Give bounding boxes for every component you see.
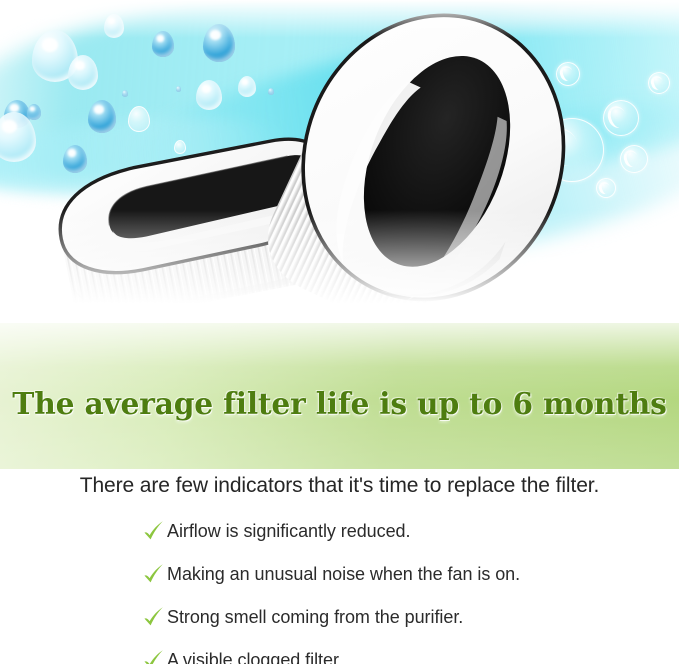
water-bubble [648, 72, 670, 94]
list-item-label: Airflow is significantly reduced. [167, 519, 410, 543]
list-item-label: A visible clogged filter. [167, 648, 343, 664]
water-droplet [128, 106, 150, 132]
water-bubble [596, 178, 616, 198]
list-item: Strong smell coming from the purifier. [143, 605, 520, 648]
indicators-section: There are few indicators that it's time … [0, 469, 679, 664]
water-droplet [68, 55, 98, 90]
list-item-label: Making an unusual noise when the fan is … [167, 562, 520, 586]
check-icon [143, 520, 165, 544]
water-droplet [238, 76, 256, 97]
water-droplet [88, 100, 116, 133]
water-droplet-speck [176, 86, 181, 92]
check-icon [143, 649, 165, 664]
water-droplet [63, 145, 87, 173]
product-feature-image: The average filter life is up to 6 month… [0, 0, 679, 664]
water-droplet [196, 80, 222, 110]
water-droplet [27, 104, 41, 120]
list-item: Making an unusual noise when the fan is … [143, 562, 520, 605]
section-subheading: There are few indicators that it's time … [0, 474, 679, 498]
indicator-list: Airflow is significantly reduced. Making… [143, 519, 520, 664]
list-item-label: Strong smell coming from the purifier. [167, 605, 463, 629]
water-droplet-speck [268, 88, 274, 95]
water-bubble [620, 145, 648, 173]
list-item: A visible clogged filter. [143, 648, 520, 664]
headline-banner: The average filter life is up to 6 month… [0, 323, 679, 469]
check-icon [143, 563, 165, 587]
banner-headline: The average filter life is up to 6 month… [12, 387, 666, 422]
product-photo [0, 0, 679, 330]
photo-top-fade [0, 0, 679, 38]
photo-bottom-fade [0, 210, 679, 330]
check-icon [143, 606, 165, 630]
water-droplet-speck [122, 90, 128, 97]
list-item: Airflow is significantly reduced. [143, 519, 520, 562]
